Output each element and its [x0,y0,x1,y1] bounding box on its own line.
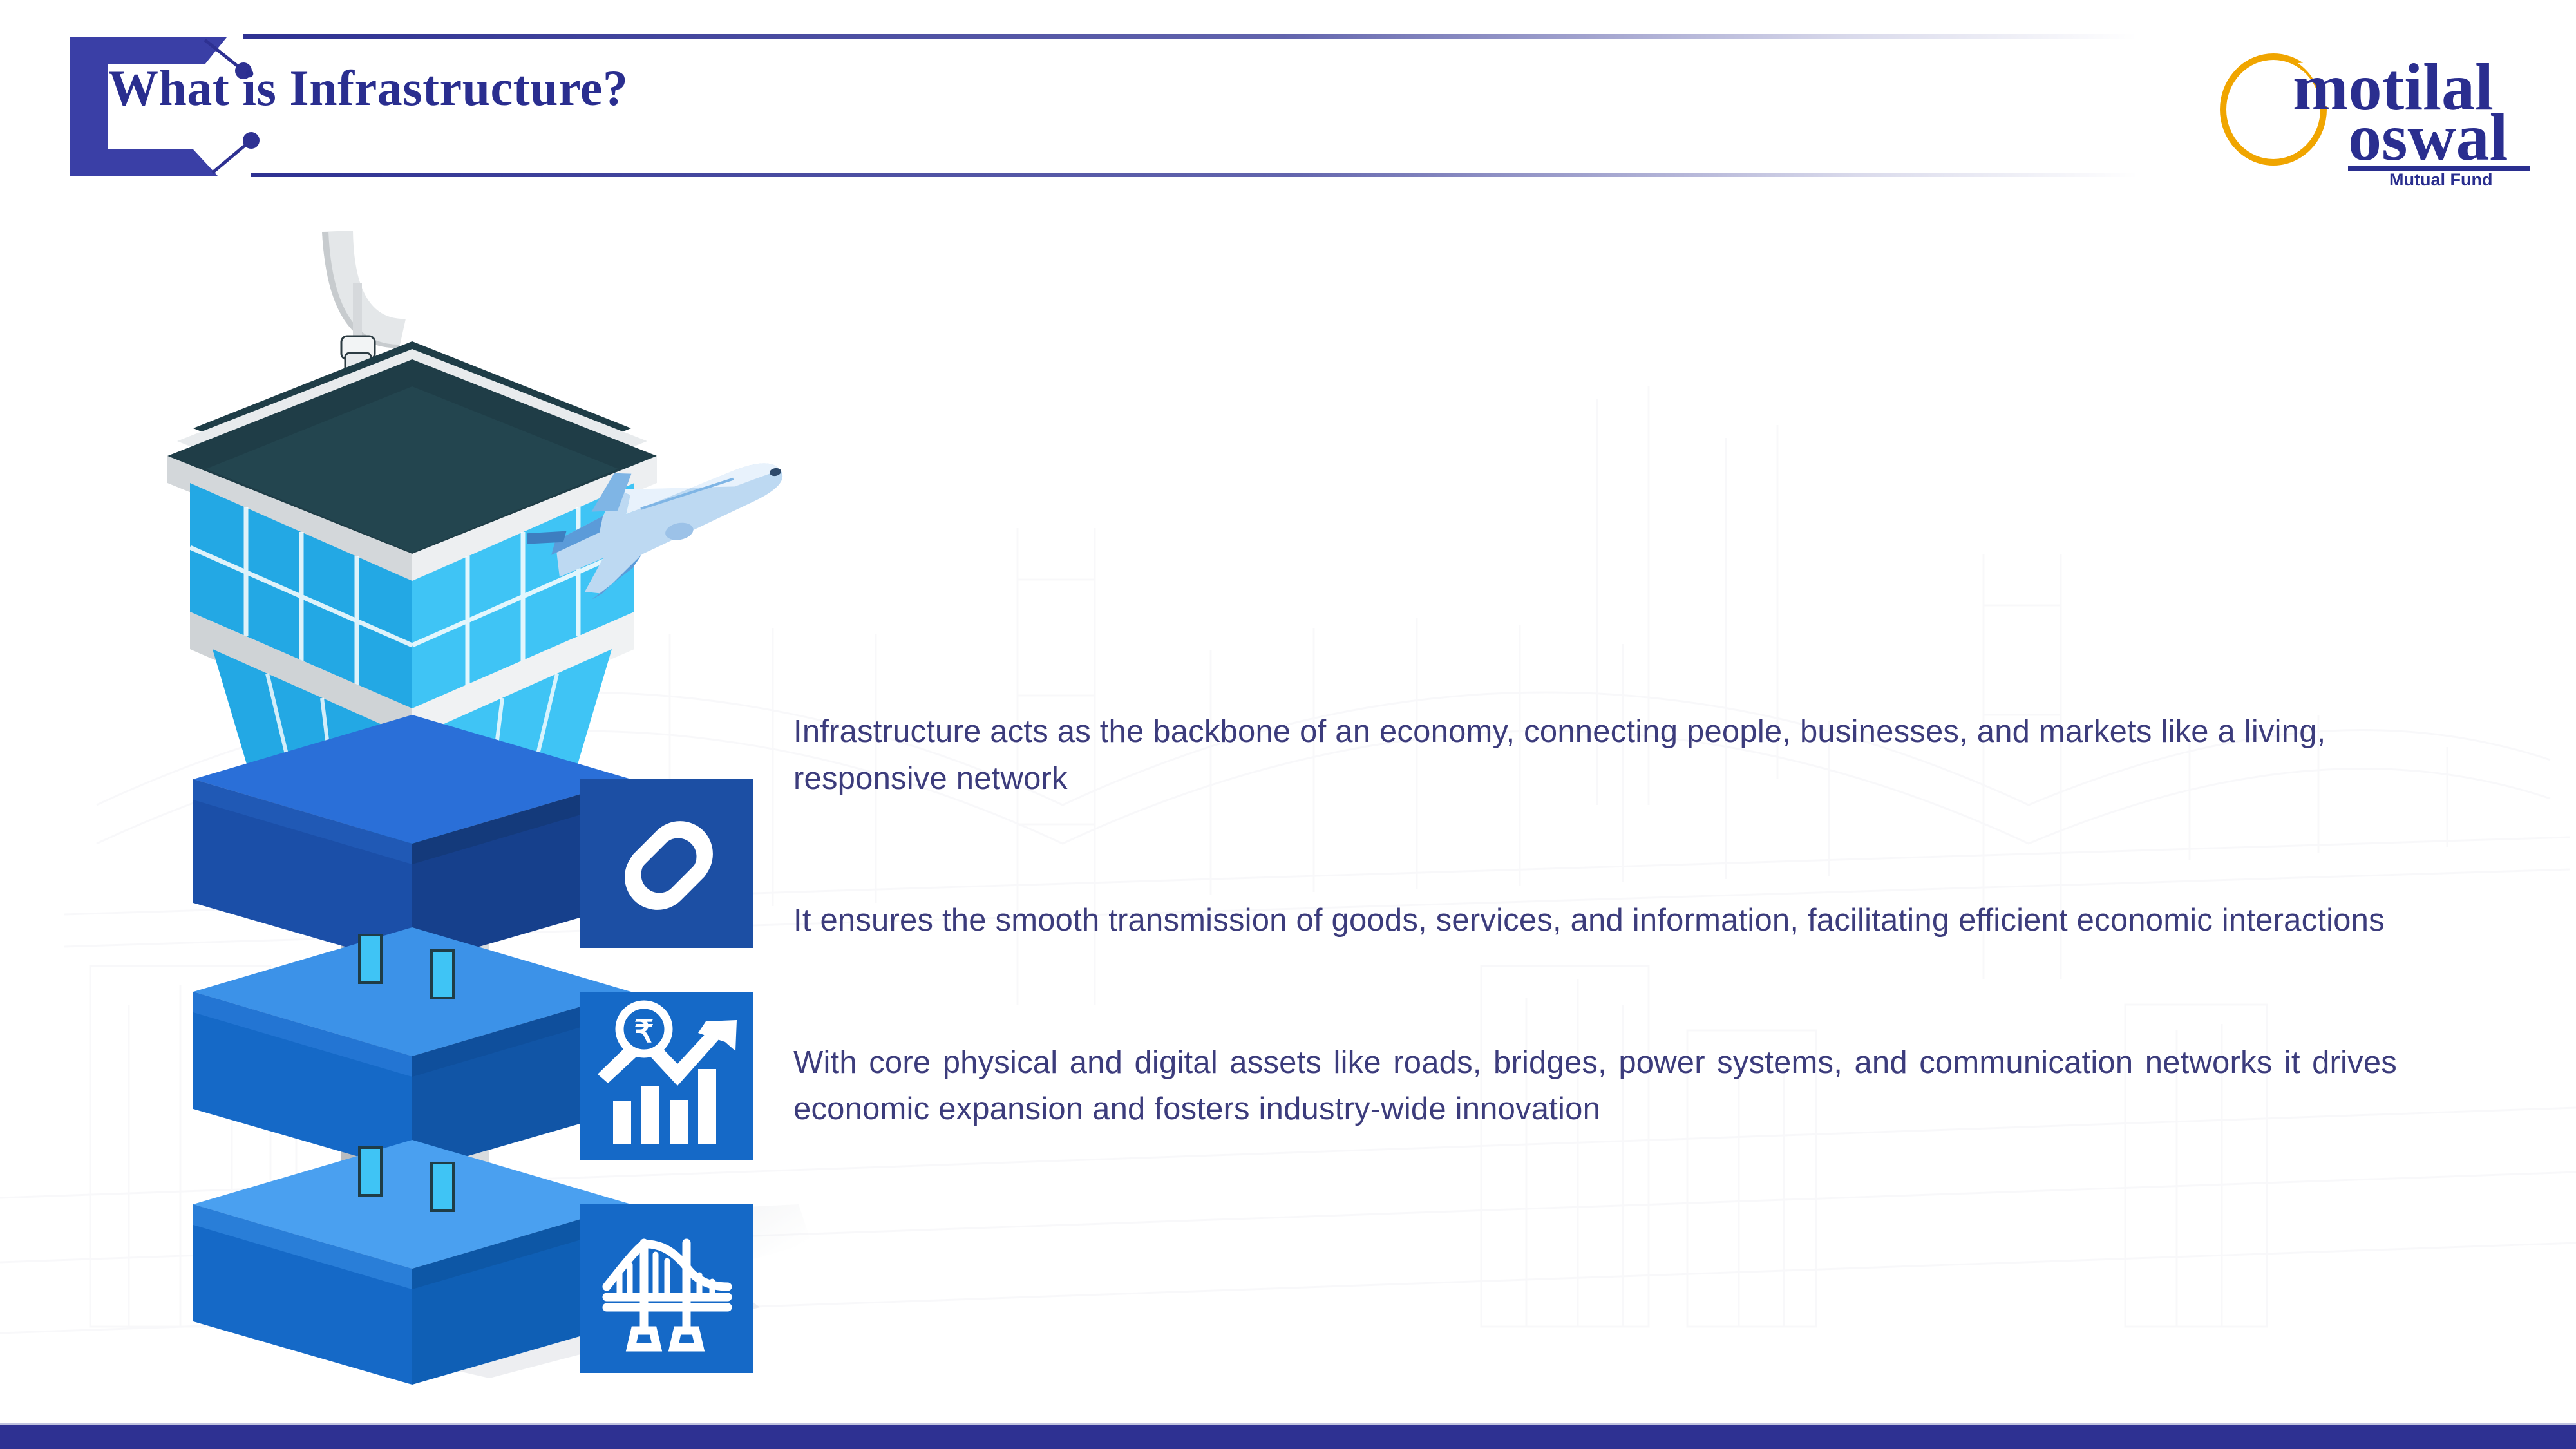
logo-word-oswal: oswal [2348,100,2508,175]
block-2[interactable]: ₹ [193,927,753,1172]
page-header: What is Infrastructure? [0,0,2576,193]
paragraph-2: It ensures the smooth transmission of go… [793,897,2416,944]
footer-bar [0,1425,2576,1449]
block-1-tile [580,779,753,948]
block-3[interactable] [193,1140,753,1385]
paragraph-3: With core physical and digital assets li… [793,1039,2397,1133]
page-title: What is Infrastructure? [108,59,628,117]
svg-text:₹: ₹ [634,1015,654,1049]
paragraph-1: Infrastructure acts as the backbone of a… [793,708,2416,802]
logo-tagline: Mutual Fund [2389,170,2492,188]
content-area: Infrastructure acts as the backbone of a… [793,708,2416,1133]
brand-logo: motilal oswal Mutual Fund [2201,33,2536,188]
